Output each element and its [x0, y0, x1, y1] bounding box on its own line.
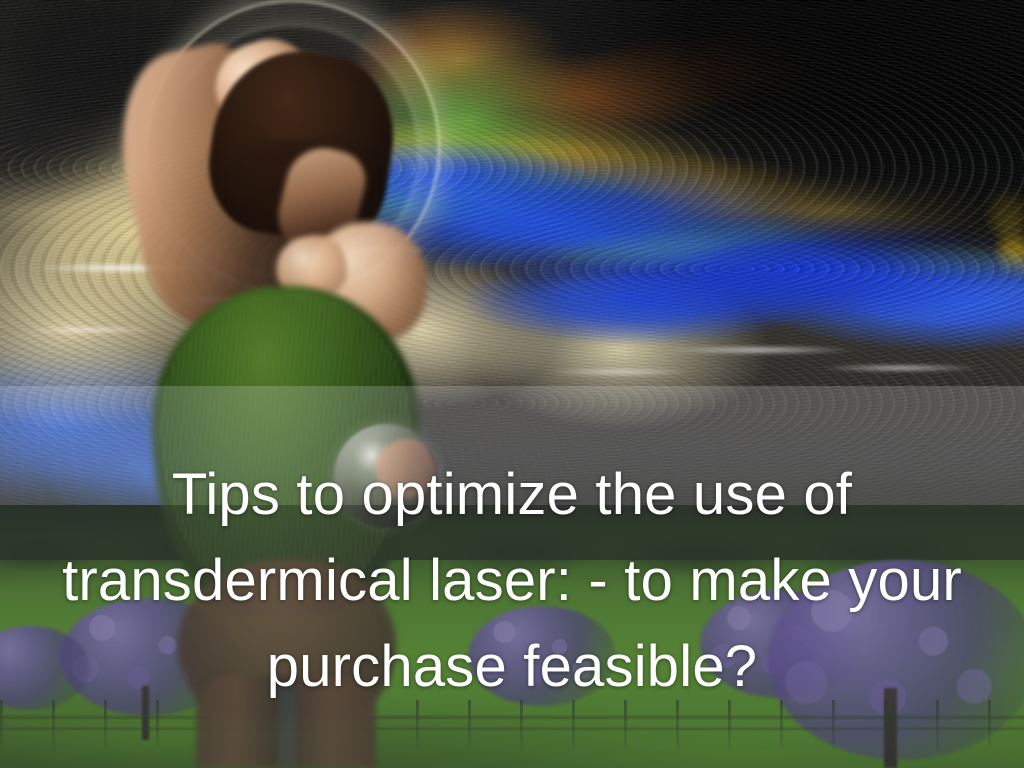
presentation-slide: Tips to optimize the use of transdermica…: [0, 0, 1024, 768]
figure-raised-arm: [103, 35, 308, 340]
title-line-1: Tips to optimize the use of: [0, 452, 1024, 538]
figure-face: [270, 140, 372, 264]
meadow-fence-wire: [0, 714, 1024, 738]
slide-title: Tips to optimize the use of transdermica…: [0, 452, 1024, 710]
figure-halo-inner: [168, 26, 418, 276]
figure-shoulder: [306, 222, 426, 342]
figure-hand-on-head: [204, 29, 319, 133]
figure-halo-ring: [148, 2, 438, 292]
title-line-3: purchase feasible?: [0, 624, 1024, 710]
figure-hand-at-neck: [271, 230, 351, 303]
figure-hair: [200, 40, 404, 248]
figure-hair-strands: [228, 140, 378, 250]
title-line-2: transdermical laser: - to make your: [0, 538, 1024, 624]
